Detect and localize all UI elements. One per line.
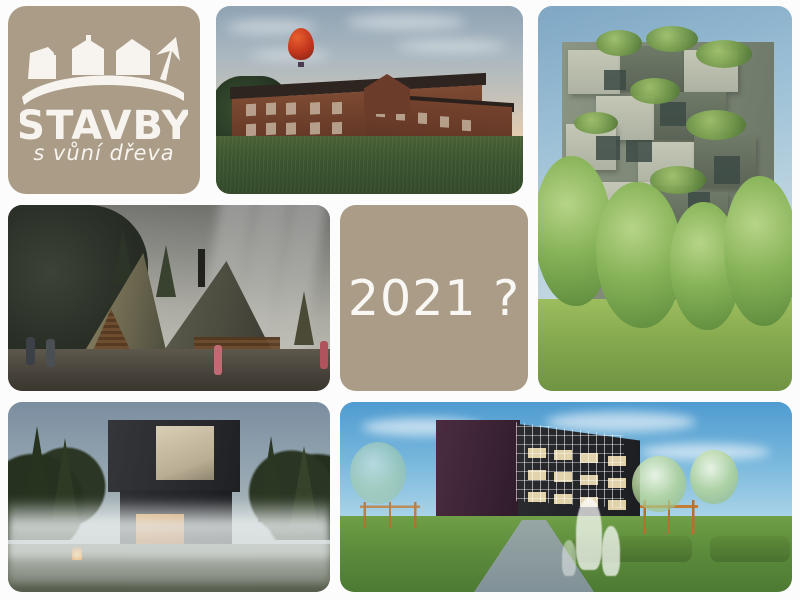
- hiker-figure: [320, 341, 328, 369]
- hotel-photo-canvas: [216, 6, 523, 194]
- person-silhouette: [602, 526, 620, 576]
- window: [596, 136, 620, 160]
- background-tree: [350, 442, 406, 504]
- year-label: 2021 ?: [348, 270, 520, 327]
- rooftop-planting: [696, 40, 752, 68]
- terrace-planting: [686, 110, 746, 140]
- upper-window: [156, 426, 214, 480]
- pergola-structure: [360, 502, 420, 528]
- hiker-figure: [26, 337, 35, 365]
- meadow-foreground: [216, 136, 523, 194]
- background-tree: [690, 450, 738, 504]
- rooftop-planting: [646, 26, 698, 52]
- cloud-shape: [396, 40, 506, 52]
- cloud-shape: [346, 14, 466, 30]
- cabin-photo-canvas: [8, 402, 330, 592]
- hiker-figure: [214, 345, 222, 375]
- person-silhouette: [576, 498, 602, 570]
- tower-photo-canvas: [538, 6, 792, 391]
- arc-swoosh-icon: [22, 75, 184, 105]
- photo-dark-cabin-dusk[interactable]: [8, 402, 330, 592]
- window: [660, 102, 686, 126]
- balloon-basket: [298, 62, 304, 67]
- year-tile[interactable]: 2021 ?: [340, 205, 528, 391]
- window: [626, 140, 652, 162]
- wet-path-foreground: [8, 349, 330, 391]
- block-photo-canvas: [340, 402, 792, 592]
- house-icon: [116, 39, 150, 75]
- aframe-photo-canvas: [8, 205, 330, 391]
- window: [714, 156, 740, 184]
- rooftop-planting: [596, 30, 642, 56]
- window: [604, 70, 626, 90]
- logo-tile[interactable]: STAVBY s vůní dřeva: [8, 6, 200, 194]
- collage-board: STAVBY s vůní dřeva: [0, 0, 800, 600]
- background-tree: [632, 456, 686, 512]
- stavby-logo-mark: STAVBY: [20, 35, 188, 147]
- photo-hotel-sunset[interactable]: [216, 6, 523, 194]
- logo-tagline: s vůní dřeva: [33, 141, 174, 165]
- foreground-tree: [596, 182, 682, 328]
- hot-air-balloon-icon: [288, 28, 314, 60]
- house-icon: [72, 39, 104, 75]
- photo-aframe-shelters[interactable]: [8, 205, 330, 391]
- chimney: [198, 249, 205, 287]
- arrow-up-icon: [156, 37, 180, 81]
- fog-layer: [8, 524, 330, 584]
- person-silhouette: [562, 540, 576, 576]
- terrace-planting: [630, 78, 680, 104]
- photo-apartment-block-playground[interactable]: [340, 402, 792, 592]
- house-icon: [50, 55, 56, 79]
- photo-green-modular-tower[interactable]: [538, 6, 792, 391]
- terrace-planting: [574, 112, 618, 134]
- hiker-figure: [46, 339, 55, 367]
- facade-mesh-screen: [516, 422, 624, 508]
- house-icon: [86, 35, 91, 44]
- hedge: [710, 536, 790, 562]
